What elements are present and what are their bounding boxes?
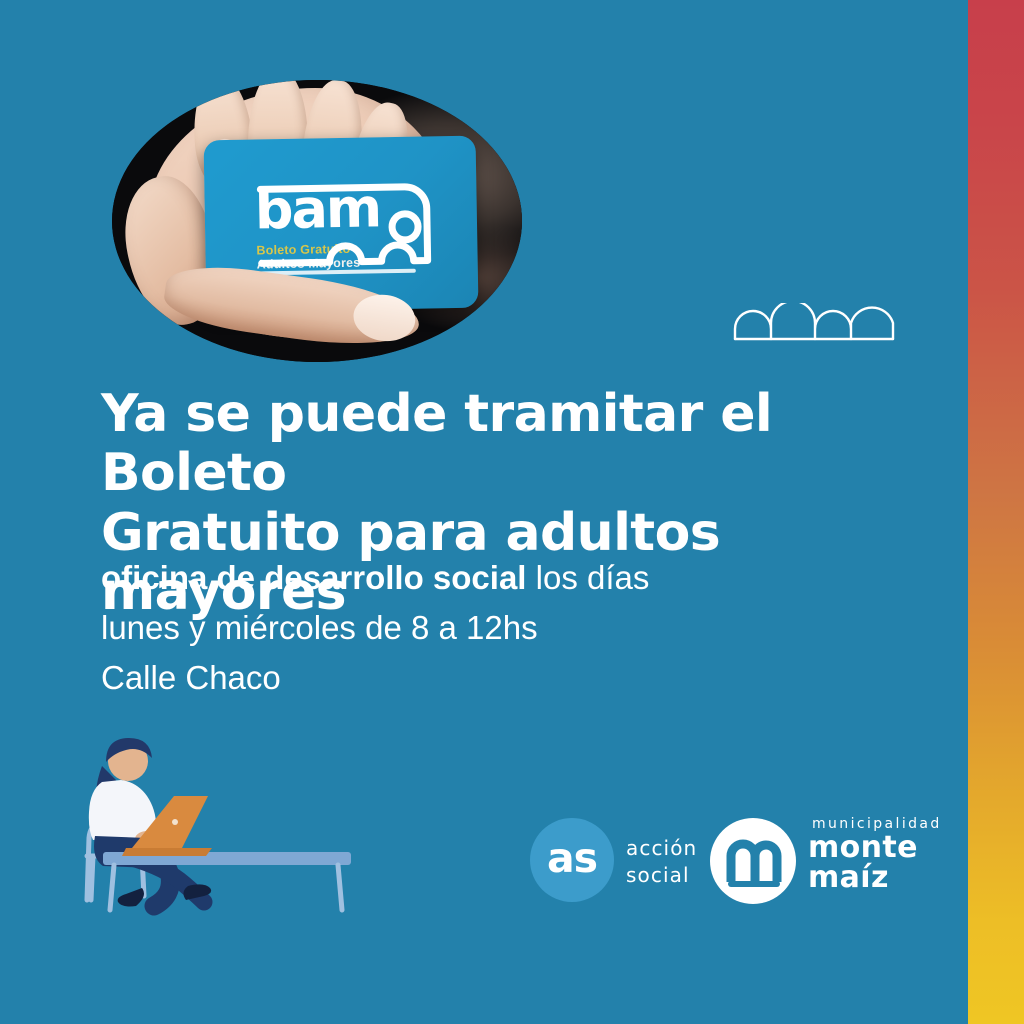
gradient-strip: [968, 0, 1024, 1024]
body-line-1-strong: oficina de desarrollo social: [101, 559, 526, 596]
monte-maiz-logo: municipalidad monte maíz: [710, 812, 930, 910]
body-line-1: oficina de desarrollo social los días: [101, 553, 881, 603]
bus-outline-icon: [252, 164, 460, 288]
body-copy: oficina de desarrollo social los días lu…: [101, 553, 881, 703]
poster-canvas: bam Boleto Gratuito Adultos Mayores Ya s…: [0, 0, 1024, 1024]
accion-social-line-1: acción: [626, 835, 697, 862]
as-monogram: as: [530, 818, 614, 902]
body-line-1-rest: los días: [526, 559, 649, 596]
monte-maiz-line-1: monte: [808, 833, 942, 863]
woman-at-desk-icon: [62, 726, 354, 918]
monte-maiz-line-2: maíz: [808, 863, 942, 893]
arcade-arches-icon: [733, 303, 895, 341]
body-line-2: lunes y miércoles de 8 a 12hs: [101, 603, 881, 653]
headline-line-1: Ya se puede tramitar el Boleto: [101, 385, 931, 504]
arcade-arches-decoration: [733, 303, 895, 341]
logo-row: as acción social municipalidad monte maí…: [530, 812, 920, 910]
bam-card-photo: bam Boleto Gratuito Adultos Mayores: [112, 80, 522, 362]
accion-social-line-2: social: [626, 862, 697, 889]
bam-logo: bam Boleto Gratuito Adultos Mayores: [252, 164, 460, 288]
accion-social-wordmark: acción social: [626, 835, 697, 889]
body-line-3: Calle Chaco: [101, 653, 881, 703]
monte-maiz-m-icon: [710, 818, 796, 904]
monte-maiz-wordmark: municipalidad monte maíz: [808, 812, 942, 893]
woman-at-desk-illustration: [62, 726, 354, 918]
